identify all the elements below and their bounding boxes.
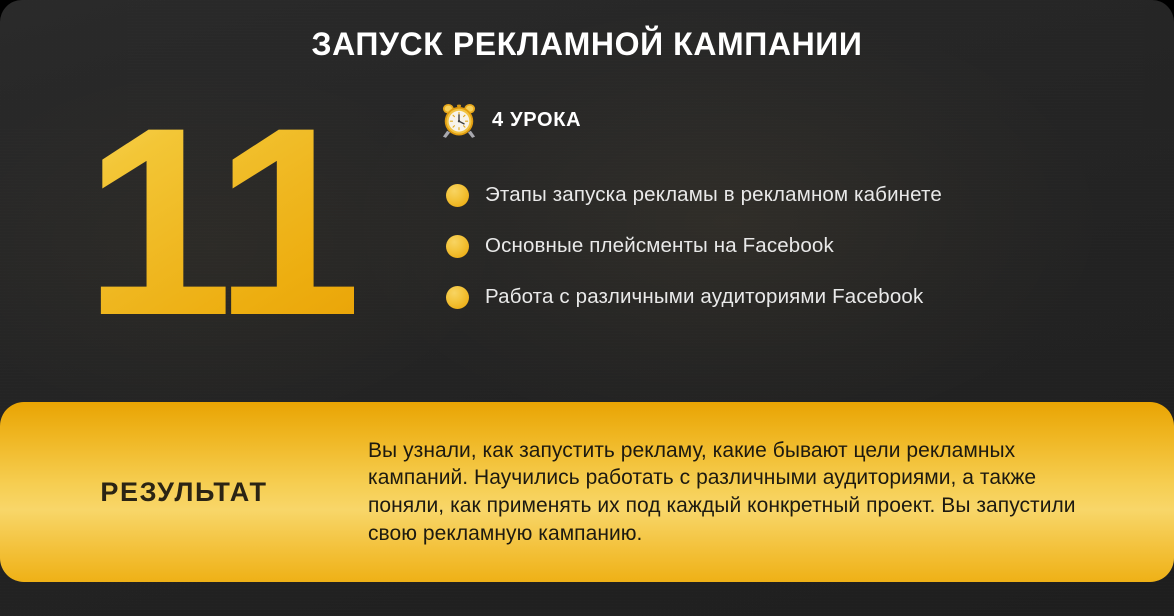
result-body: Вы узнали, как запустить рекламу, какие … <box>368 402 1174 582</box>
result-label: РЕЗУЛЬТАТ <box>100 477 267 508</box>
list-item: Работа с различными аудиториями Facebook <box>446 284 942 310</box>
topic-label: Работа с различными аудиториями Facebook <box>485 285 923 309</box>
gold-dot-icon <box>446 235 469 258</box>
gold-dot-icon <box>446 184 469 207</box>
lessons-count-label: 4 УРОКА <box>492 109 581 132</box>
lessons-count-row: 4 УРОКА <box>440 98 581 142</box>
page-title: ЗАПУСК РЕКЛАМНОЙ КАМПАНИИ <box>0 26 1174 63</box>
result-label-container: РЕЗУЛЬТАТ <box>0 402 368 582</box>
topic-label: Основные плейсменты на Facebook <box>485 234 834 258</box>
gold-dot-icon <box>446 286 469 309</box>
result-panel: РЕЗУЛЬТАТ Вы узнали, как запустить рекла… <box>0 402 1174 582</box>
list-item: Этапы запуска рекламы в рекламном кабине… <box>446 182 942 208</box>
lesson-module-card: ЗАПУСК РЕКЛАМНОЙ КАМПАНИИ 11 <box>0 0 1174 616</box>
alarm-clock-icon <box>440 101 478 139</box>
list-item: Основные плейсменты на Facebook <box>446 233 942 259</box>
topic-label: Этапы запуска рекламы в рекламном кабине… <box>485 183 942 207</box>
result-description: Вы узнали, как запустить рекламу, какие … <box>368 437 1090 548</box>
module-number: 11 <box>84 96 354 346</box>
topics-list: Этапы запуска рекламы в рекламном кабине… <box>446 182 942 310</box>
